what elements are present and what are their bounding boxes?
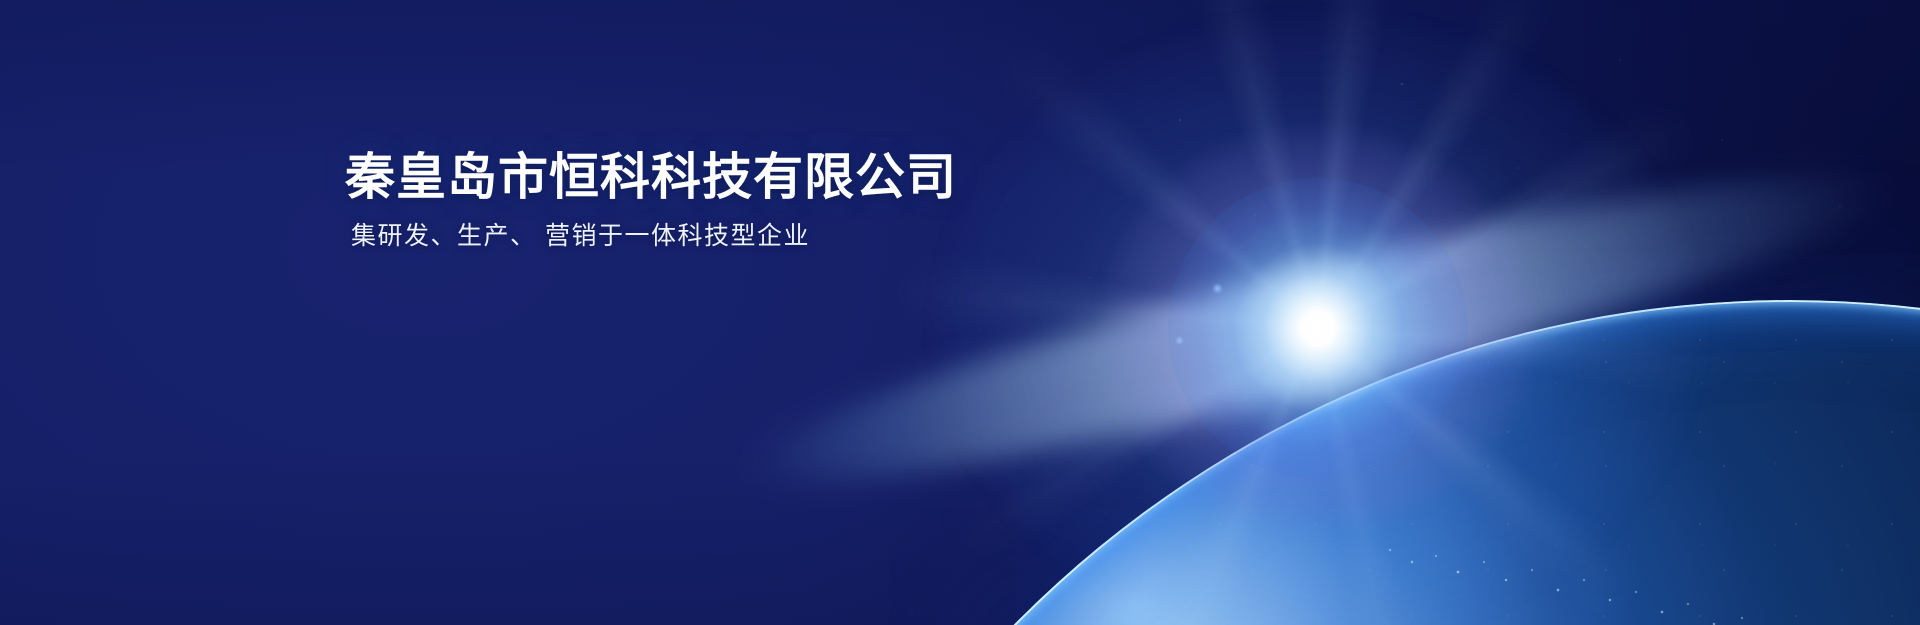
hero-banner: 秦皇岛市恒科科技有限公司 集研发、生产、 营销于一体科技型企业 <box>0 0 1920 625</box>
city-lights-icon <box>700 300 1920 625</box>
company-tagline: 集研发、生产、 营销于一体科技型企业 <box>351 220 1105 253</box>
earth-globe <box>0 0 1920 625</box>
company-title: 秦皇岛市恒科科技有限公司 <box>345 148 1105 206</box>
globe-sphere <box>700 300 1920 625</box>
hero-copy: 秦皇岛市恒科科技有限公司 集研发、生产、 营销于一体科技型企业 <box>345 148 1105 253</box>
